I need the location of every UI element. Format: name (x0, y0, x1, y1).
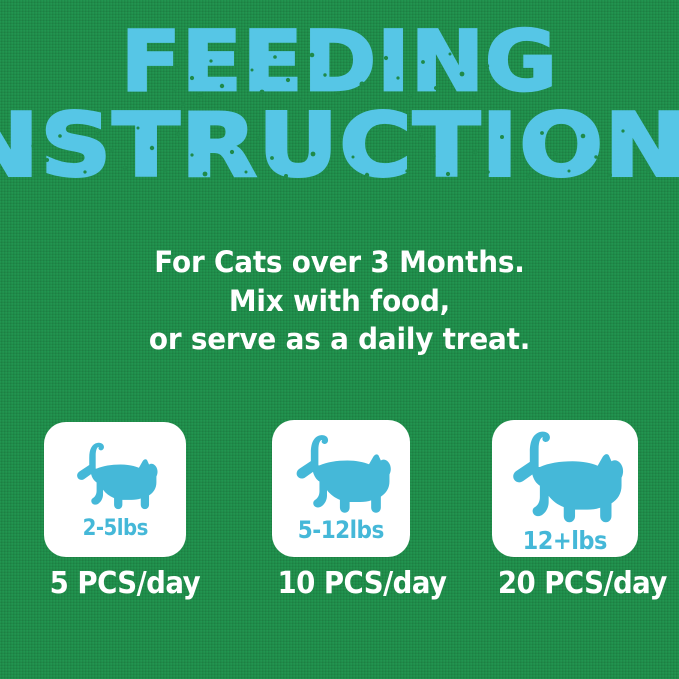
cat-icon-wrap (272, 431, 410, 516)
dose-label: 10 PCS/day (278, 566, 405, 601)
page-title: FEEDING INSTRUCTIONS (0, 28, 679, 181)
feeding-instructions-poster: FEEDING INSTRUCTIONS (0, 0, 679, 679)
dosage-card-group-small: 2-5lbs 5 PCS/day (44, 422, 186, 601)
weight-range-label: 2-5lbs (82, 516, 147, 541)
cat-icon (287, 432, 395, 516)
dose-label: 5 PCS/day (50, 566, 181, 601)
subtitle-block: For Cats over 3 Months. Mix with food, o… (0, 243, 679, 359)
dose-label: 20 PCS/day (498, 566, 632, 601)
dosage-card-group-large: 12+lbs 20 PCS/day (492, 420, 638, 601)
weight-range-label: 12+lbs (523, 526, 607, 555)
cat-icon (502, 428, 628, 526)
weight-range-label: 5-12lbs (298, 516, 384, 544)
subtitle-line-3: or serve as a daily treat. (14, 320, 666, 359)
dosage-card: 5-12lbs (272, 420, 410, 557)
title-line-feeding: FEEDING (0, 24, 679, 102)
subtitle-line-1: For Cats over 3 Months. (14, 243, 666, 282)
dosage-card: 2-5lbs (44, 422, 186, 557)
dosage-card: 12+lbs (492, 420, 638, 557)
subtitle-line-2: Mix with food, (14, 282, 666, 321)
cat-icon (69, 440, 161, 512)
dosage-cards: 2-5lbs 5 PCS/day 5-12lbs 10 PCS/day (0, 415, 679, 625)
cat-icon-wrap (44, 436, 186, 516)
dosage-card-group-medium: 5-12lbs 10 PCS/day (272, 420, 410, 601)
cat-icon-wrap (492, 428, 638, 526)
title-line-instructions: INSTRUCTIONS (0, 105, 679, 187)
